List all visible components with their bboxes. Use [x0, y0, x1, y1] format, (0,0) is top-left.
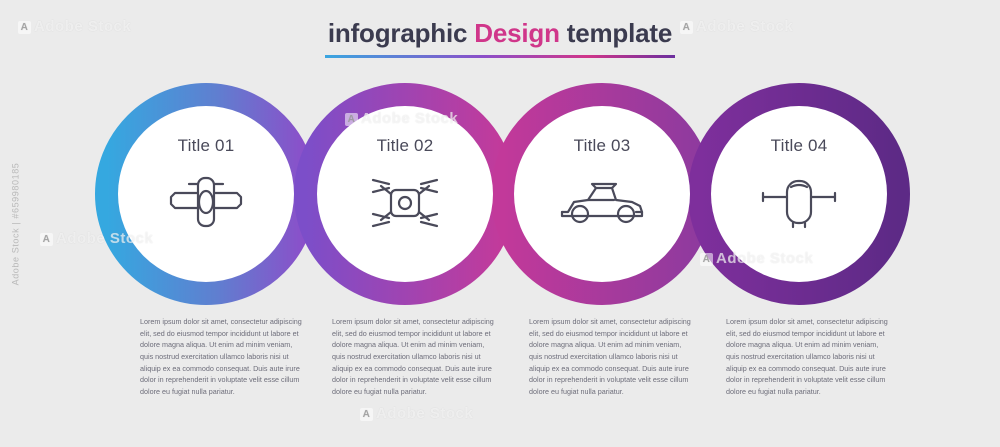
quadcopter-drone-icon [369, 170, 441, 234]
header-text-line: infographic Design template [0, 18, 1000, 49]
step-2-description: Lorem ipsum dolor sit amet, consectetur … [332, 316, 498, 398]
step-4-title: Title 04 [683, 136, 915, 156]
step-3-description: Lorem ipsum dolor sit amet, consectetur … [529, 316, 695, 398]
header-word-infographic: infographic [328, 18, 467, 49]
step-4-description: Lorem ipsum dolor sit amet, consectetur … [726, 316, 892, 398]
step-1-description: Lorem ipsum dolor sit amet, consectetur … [140, 316, 306, 398]
header-word-design: Design [474, 18, 559, 49]
header-underline-rule [325, 55, 675, 58]
stock-watermark-tile-text-6: Adobe Stock [376, 405, 473, 422]
stock-watermark-tile: AAdobe Stock [360, 405, 473, 422]
step-1-title: Title 01 [90, 136, 322, 156]
stock-watermark-id: Adobe Stock | #659980185 [10, 162, 20, 285]
stock-watermark-sidebar: Adobe Stock | #659980185 [6, 0, 24, 447]
infographic-canvas: infographic Design template [0, 0, 1000, 447]
airplane-top-view-icon [167, 172, 245, 232]
step-4[interactable]: Title 04 [683, 78, 915, 310]
step-1-icon-container [90, 166, 322, 238]
helicopter-top-view-icon [757, 173, 841, 231]
page-title: infographic Design template [0, 18, 1000, 58]
header-word-template: template [567, 18, 672, 49]
step-1[interactable]: Title 01 [90, 78, 322, 310]
formula-race-car-icon [558, 178, 646, 226]
step-4-icon-container [683, 166, 915, 238]
